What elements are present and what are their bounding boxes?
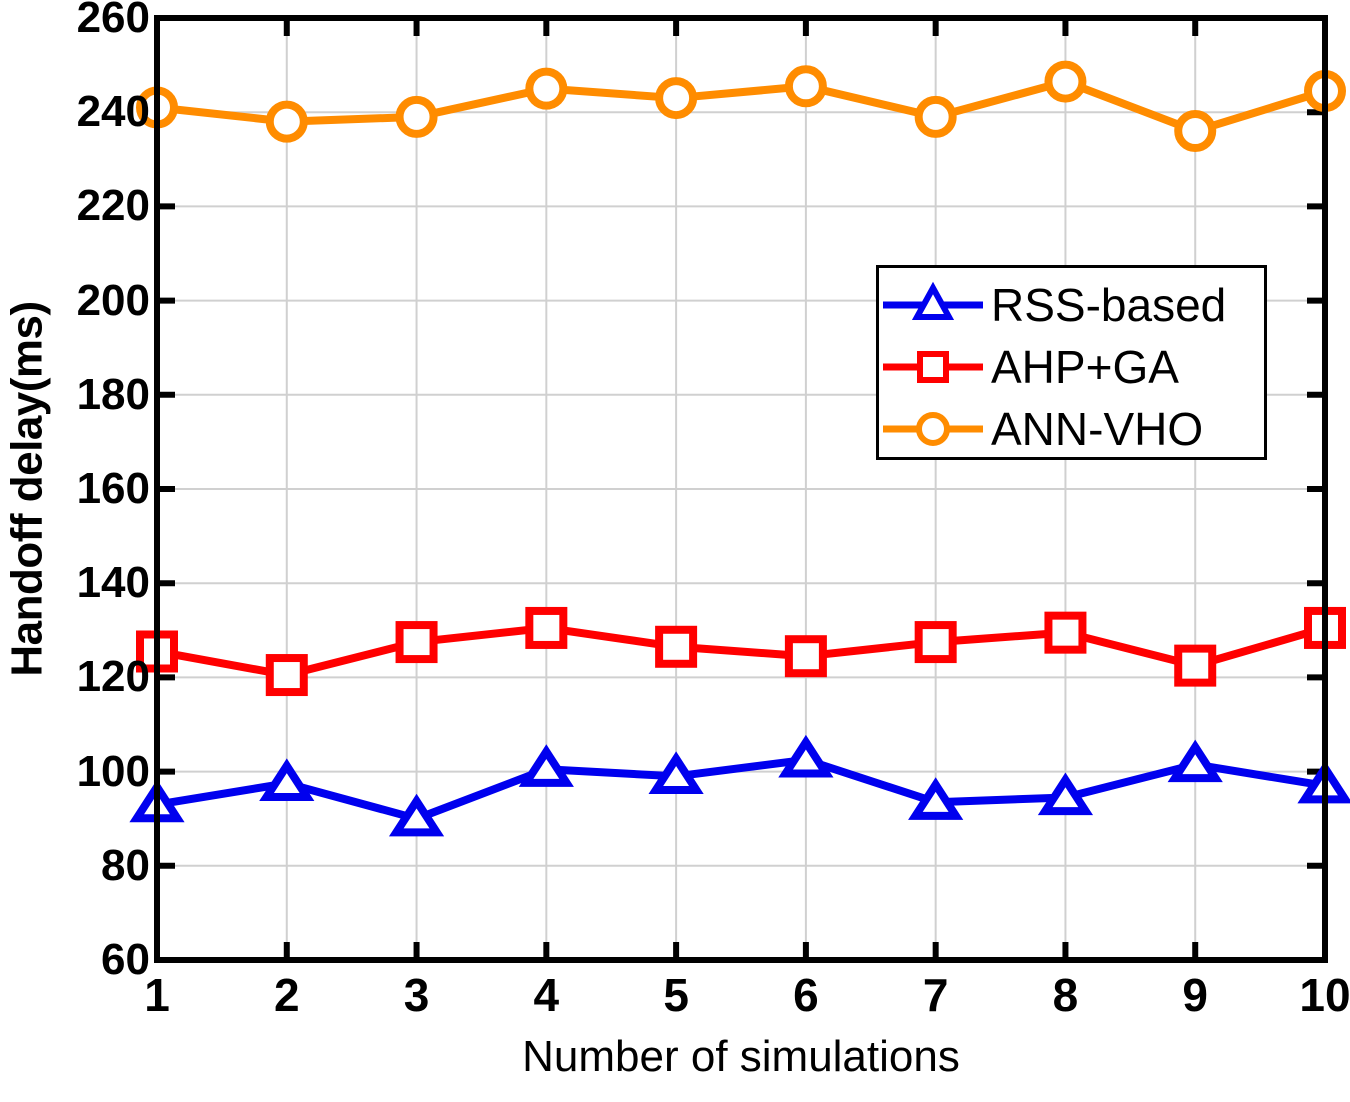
legend-item-ahp-ga[interactable]: AHP+GA [879,334,1264,399]
x-tick-label: 9 [1135,972,1255,1018]
x-tick-label: 5 [616,972,736,1018]
y-tick-label: 120 [77,655,150,699]
x-tick-label: 3 [357,972,477,1018]
y-tick-label: 180 [77,373,150,417]
chart-legend[interactable]: RSS-based AHP+GA ANN-VHO [876,265,1267,460]
legend-label: ANN-VHO [991,406,1203,452]
y-tick-label: 240 [77,90,150,134]
x-tick-label: 2 [227,972,347,1018]
legend-marker-triangle-icon [879,275,987,335]
legend-item-rss-based[interactable]: RSS-based [879,272,1264,337]
x-tick-label: 4 [486,972,606,1018]
legend-marker-circle-icon [879,399,987,459]
chart-figure: Handoff delay(ms) 6080100120140160180200… [0,0,1350,1102]
x-tick-label: 6 [746,972,866,1018]
y-tick-label: 160 [77,467,150,511]
y-tick-label: 260 [77,0,150,40]
x-tick-label: 1 [97,972,217,1018]
y-tick-label: 220 [77,184,150,228]
x-tick-label: 8 [1005,972,1125,1018]
y-tick-label: 100 [77,750,150,794]
y-tick-label: 140 [77,561,150,605]
legend-item-ann-vho[interactable]: ANN-VHO [879,396,1264,461]
plot-area [0,0,1350,1102]
legend-label: RSS-based [991,282,1226,328]
legend-label: AHP+GA [991,344,1179,390]
x-axis-label: Number of simulations [157,1032,1325,1082]
x-tick-label: 10 [1265,972,1350,1018]
gridlines-group [157,112,1325,866]
x-tick-label: 7 [876,972,996,1018]
y-tick-label: 80 [101,844,150,888]
y-tick-label: 200 [77,279,150,323]
legend-marker-square-icon [879,337,987,397]
